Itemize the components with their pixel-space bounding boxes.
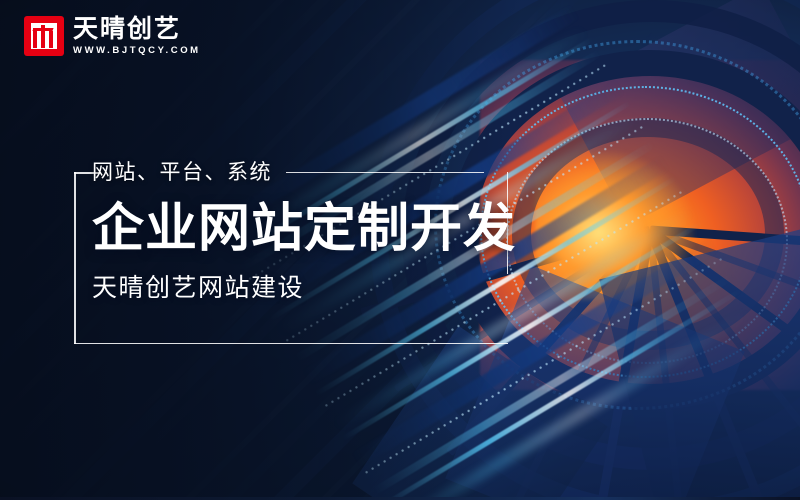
- logo-mark-stroke: [49, 31, 53, 48]
- promo-banner: 天晴创艺 WWW.BJTQCY.COM 网站、平台、系统 企业网站定制开发 天晴…: [0, 0, 800, 500]
- logo-text-block: 天晴创艺 WWW.BJTQCY.COM: [73, 16, 201, 56]
- kicker-text: 网站、平台、系统: [92, 160, 272, 185]
- copy-block: 网站、平台、系统 企业网站定制开发 天晴创艺网站建设: [92, 160, 516, 303]
- kicker-row: 网站、平台、系统: [92, 160, 516, 185]
- brand-logo[interactable]: 天晴创艺 WWW.BJTQCY.COM: [24, 16, 201, 56]
- website-url: WWW.BJTQCY.COM: [73, 45, 201, 56]
- headline-text: 企业网站定制开发: [92, 201, 516, 257]
- frame-edge-left: [74, 172, 76, 344]
- subline-text: 天晴创艺网站建设: [92, 273, 516, 303]
- logo-mark-stroke: [32, 28, 53, 31]
- company-name: 天晴创艺: [73, 16, 201, 42]
- frame-edge-bottom: [74, 343, 508, 345]
- logo-mark-icon: [24, 16, 64, 56]
- kicker-rule: [286, 172, 484, 174]
- logo-mark-stroke: [33, 28, 37, 48]
